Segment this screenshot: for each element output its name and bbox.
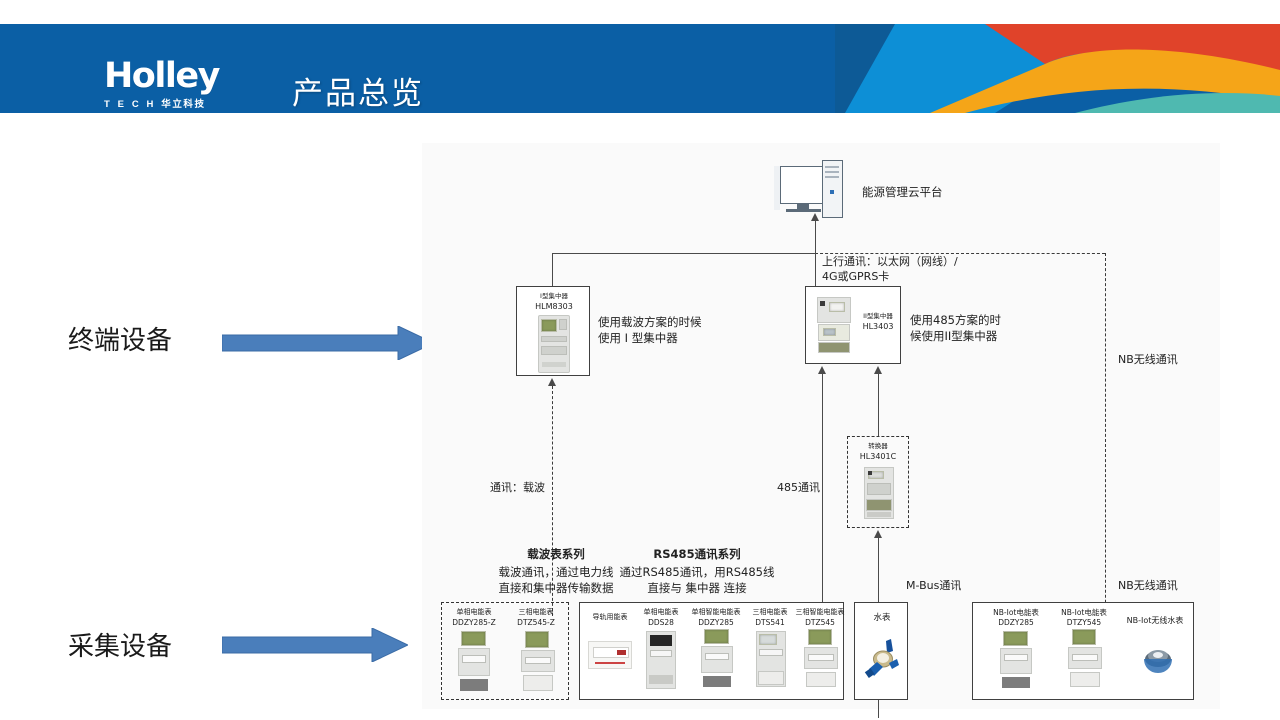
page-title: 产品总览 xyxy=(292,68,424,113)
terminal-arrow-icon xyxy=(222,326,434,360)
nb-device-1-name: NB-Iot电能表 xyxy=(1049,608,1119,617)
architecture-diagram-panel: 能源管理云平台 上行通讯：以太网（网线）/ 4G或GPRS卡 I型集中器 HLM… xyxy=(422,143,1220,709)
rs485-device-0-name: 导轨用能表 xyxy=(582,613,638,622)
water-meter-box: 水表 xyxy=(854,602,908,700)
mbus-link-arrowhead xyxy=(874,530,882,538)
slide-root: Holley T E C H 华立科技 产品总览 终端设备 采集设备 能 xyxy=(0,0,1280,720)
rs485-device-1-model: DDS28 xyxy=(634,618,688,627)
carrier-device-0-model: DDZY285-Z xyxy=(444,618,504,627)
nb-device-1-image xyxy=(1068,629,1102,689)
mbus-link-label: M-Bus通讯 xyxy=(906,579,961,594)
rs485-device-3-image xyxy=(756,631,786,687)
converter-title: 转换器 xyxy=(848,442,908,450)
concentrator-1-model: HLM8303 xyxy=(517,302,591,312)
water-meter-feeder xyxy=(878,583,879,602)
concentrator-1-title: I型集中器 xyxy=(517,292,591,300)
page-header: Holley T E C H 华立科技 产品总览 xyxy=(0,24,1280,113)
rs485-device-4-model: DTZ545 xyxy=(788,618,852,627)
concentrator-1-image xyxy=(538,315,570,373)
converter-model: HL3401C xyxy=(848,452,908,462)
converter-box: 转换器 HL3401C xyxy=(847,436,909,528)
cloud-platform-computer-icon xyxy=(780,160,844,218)
logo-wordmark: Holley xyxy=(104,58,272,94)
rs485-device-1-image xyxy=(646,631,676,689)
carrier-link-arrowhead xyxy=(548,378,556,386)
carrier-device-0-name: 单相电能表 xyxy=(444,608,504,617)
collection-arrow-icon xyxy=(222,628,408,662)
rs485-link-line xyxy=(822,374,823,614)
concentrator-2-box: II型集中器 HL3403 xyxy=(805,286,901,364)
carrier-device-1-image xyxy=(521,631,555,693)
rs485-device-0-image xyxy=(588,641,632,669)
nb-device-0-model: DDZY285 xyxy=(981,618,1051,627)
header-swoosh-decoration xyxy=(835,24,1280,113)
nb-device-0-name: NB-Iot电能表 xyxy=(981,608,1051,617)
uplink-bus-dashed xyxy=(815,253,1105,254)
logo-subtext: T E C H 华立科技 xyxy=(104,96,272,110)
rs485-device-1-name: 单相电能表 xyxy=(634,608,688,617)
logo-subtext-en: T E C H xyxy=(104,99,156,110)
cloud-uplink-arrowhead xyxy=(811,213,819,221)
nb-wireless-bottom-label: NB无线通讯 xyxy=(1118,579,1178,594)
uplink-note-label: 上行通讯：以太网（网线）/ 4G或GPRS卡 xyxy=(822,255,958,285)
concentrator-2-model: HL3403 xyxy=(856,322,900,332)
rs485-group-box: 导轨用能表 单相电能表 DDS28 单相智能电能表 DDZY285 xyxy=(579,602,844,700)
rs485-link-arrowhead xyxy=(818,366,826,374)
section-label-terminal: 终端设备 xyxy=(68,320,172,357)
section-label-collection: 采集设备 xyxy=(68,626,172,663)
concentrator-1-note: 使用载波方案的时候 使用 I 型集中器 xyxy=(598,315,702,346)
cloud-uplink-line xyxy=(815,219,816,253)
holley-logo: Holley T E C H 华立科技 xyxy=(104,58,272,110)
nb-device-2-name: NB-Iot无线水表 xyxy=(1119,616,1191,626)
converter-uplink-arrowhead xyxy=(874,366,882,374)
nb-device-1-model: DTZY545 xyxy=(1049,618,1119,627)
rs485-device-2-model: DDZY285 xyxy=(684,618,748,627)
nb-wireless-water-meter-icon xyxy=(1138,637,1178,683)
rs485-device-4-name: 三相智能电能表 xyxy=(788,608,852,617)
rs485-device-2-image xyxy=(701,629,733,689)
cloud-platform-label: 能源管理云平台 xyxy=(862,185,943,201)
rs485-device-4-image xyxy=(804,629,838,689)
carrier-device-1-model: DTZ545-Z xyxy=(506,618,566,627)
converter-uplink-line xyxy=(878,374,879,436)
uplink-bus-line xyxy=(552,253,816,254)
carrier-device-0-image xyxy=(458,631,490,693)
concentrator-2-image xyxy=(817,297,851,353)
carrier-link-label: 通讯：载波 xyxy=(490,481,545,496)
rs485-group-desc: 通过RS485通讯，用RS485线 直接与 集中器 连接 xyxy=(572,565,822,596)
water-meter-label: 水表 xyxy=(855,613,909,624)
converter-image xyxy=(864,467,894,519)
rs485-link-label: 485通讯 xyxy=(777,481,820,496)
nb-group-box: NB-Iot电能表 DDZY285 NB-Iot电能表 DTZY545 NB-I… xyxy=(972,602,1194,700)
rs485-group-heading: RS485通讯系列 xyxy=(572,547,822,563)
carrier-device-1-name: 三相电能表 xyxy=(506,608,566,617)
concentrator-1-box: I型集中器 HLM8303 xyxy=(516,286,590,376)
c2-uplink-line xyxy=(815,253,816,286)
concentrator-2-note: 使用485方案的时 候使用II型集中器 xyxy=(910,313,1001,344)
concentrator-2-title: II型集中器 xyxy=(856,312,900,320)
nb-wireless-right-label: NB无线通讯 xyxy=(1118,353,1178,368)
nb-wireless-spine xyxy=(1105,253,1106,643)
logo-subtext-cn: 华立科技 xyxy=(161,99,205,110)
nb-device-0-image xyxy=(1000,631,1032,691)
c1-uplink-line xyxy=(552,253,553,286)
carrier-group-box: 单相电能表 DDZY285-Z 三相电能表 DTZ545-Z xyxy=(441,602,569,700)
rs485-device-2-name: 单相智能电能表 xyxy=(684,608,748,617)
water-meter-icon xyxy=(864,635,902,683)
